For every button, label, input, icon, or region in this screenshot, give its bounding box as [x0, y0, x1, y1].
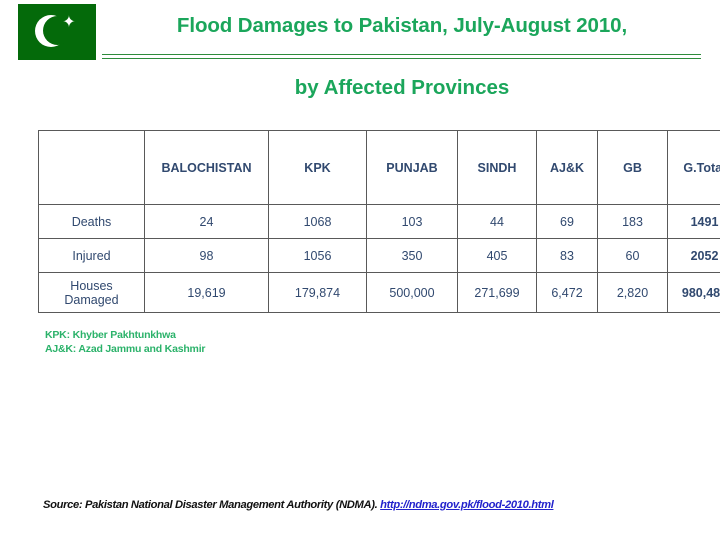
cell-houses-punjab: 500,000 — [367, 273, 458, 313]
abbreviation-notes: KPK: Khyber Pakhtunkhwa AJ&K: Azad Jammu… — [45, 328, 205, 356]
cell-injured-gb: 60 — [598, 239, 668, 273]
row-label-deaths: Deaths — [39, 205, 145, 239]
note-ajk: AJ&K: Azad Jammu and Kashmir — [45, 342, 205, 356]
cell-houses-balochistan: 19,619 — [145, 273, 269, 313]
column-header-punjab: PUNJAB — [367, 131, 458, 205]
cell-deaths-total: 1491 — [668, 205, 720, 239]
table-row: Houses Damaged 19,619 179,874 500,000 27… — [39, 273, 720, 313]
title-divider — [102, 54, 701, 59]
cell-houses-gb: 2,820 — [598, 273, 668, 313]
flood-damage-table: BALOCHISTAN KPK PUNJAB SINDH AJ&K GB G.T… — [38, 130, 720, 313]
column-header-kpk: KPK — [269, 131, 367, 205]
cell-houses-sindh: 271,699 — [458, 273, 537, 313]
cell-deaths-ajk: 69 — [537, 205, 598, 239]
cell-deaths-balochistan: 24 — [145, 205, 269, 239]
cell-houses-kpk: 179,874 — [269, 273, 367, 313]
cell-deaths-kpk: 1068 — [269, 205, 367, 239]
cell-injured-balochistan: 98 — [145, 239, 269, 273]
cell-injured-punjab: 350 — [367, 239, 458, 273]
table-header-row: BALOCHISTAN KPK PUNJAB SINDH AJ&K GB G.T… — [39, 131, 720, 205]
cell-deaths-gb: 183 — [598, 205, 668, 239]
cell-injured-sindh: 405 — [458, 239, 537, 273]
cell-injured-kpk: 1056 — [269, 239, 367, 273]
row-label-line2: Damaged — [64, 293, 118, 307]
cell-injured-ajk: 83 — [537, 239, 598, 273]
slide-header: ✦ Flood Damages to Pakistan, July-August… — [0, 0, 720, 120]
page-subtitle: by Affected Provinces — [102, 76, 702, 100]
cell-deaths-sindh: 44 — [458, 205, 537, 239]
cell-houses-total: 980,484 — [668, 273, 720, 313]
source-text: Source: Pakistan National Disaster Manag… — [43, 499, 380, 511]
row-label-injured: Injured — [39, 239, 145, 273]
cell-injured-total: 2052 — [668, 239, 720, 273]
note-kpk: KPK: Khyber Pakhtunkhwa — [45, 328, 205, 342]
source-link[interactable]: http://ndma.gov.pk/flood-2010.html — [380, 499, 553, 511]
column-header-ajk: AJ&K — [537, 131, 598, 205]
column-header-sindh: SINDH — [458, 131, 537, 205]
source-footer: Source: Pakistan National Disaster Manag… — [43, 499, 553, 511]
column-header-balochistan: BALOCHISTAN — [145, 131, 269, 205]
page-title: Flood Damages to Pakistan, July-August 2… — [102, 14, 702, 38]
cell-deaths-punjab: 103 — [367, 205, 458, 239]
table-row: Injured 98 1056 350 405 83 60 2052 — [39, 239, 720, 273]
column-header-grand-total: G.Total — [668, 131, 720, 205]
row-label-line1: Houses — [70, 279, 112, 293]
cell-houses-ajk: 6,472 — [537, 273, 598, 313]
table-corner-cell — [39, 131, 145, 205]
row-label-houses-damaged: Houses Damaged — [39, 273, 145, 313]
pakistan-flag-icon: ✦ — [18, 4, 96, 60]
star-icon: ✦ — [62, 16, 76, 30]
column-header-gb: GB — [598, 131, 668, 205]
table-row: Deaths 24 1068 103 44 69 183 1491 — [39, 205, 720, 239]
